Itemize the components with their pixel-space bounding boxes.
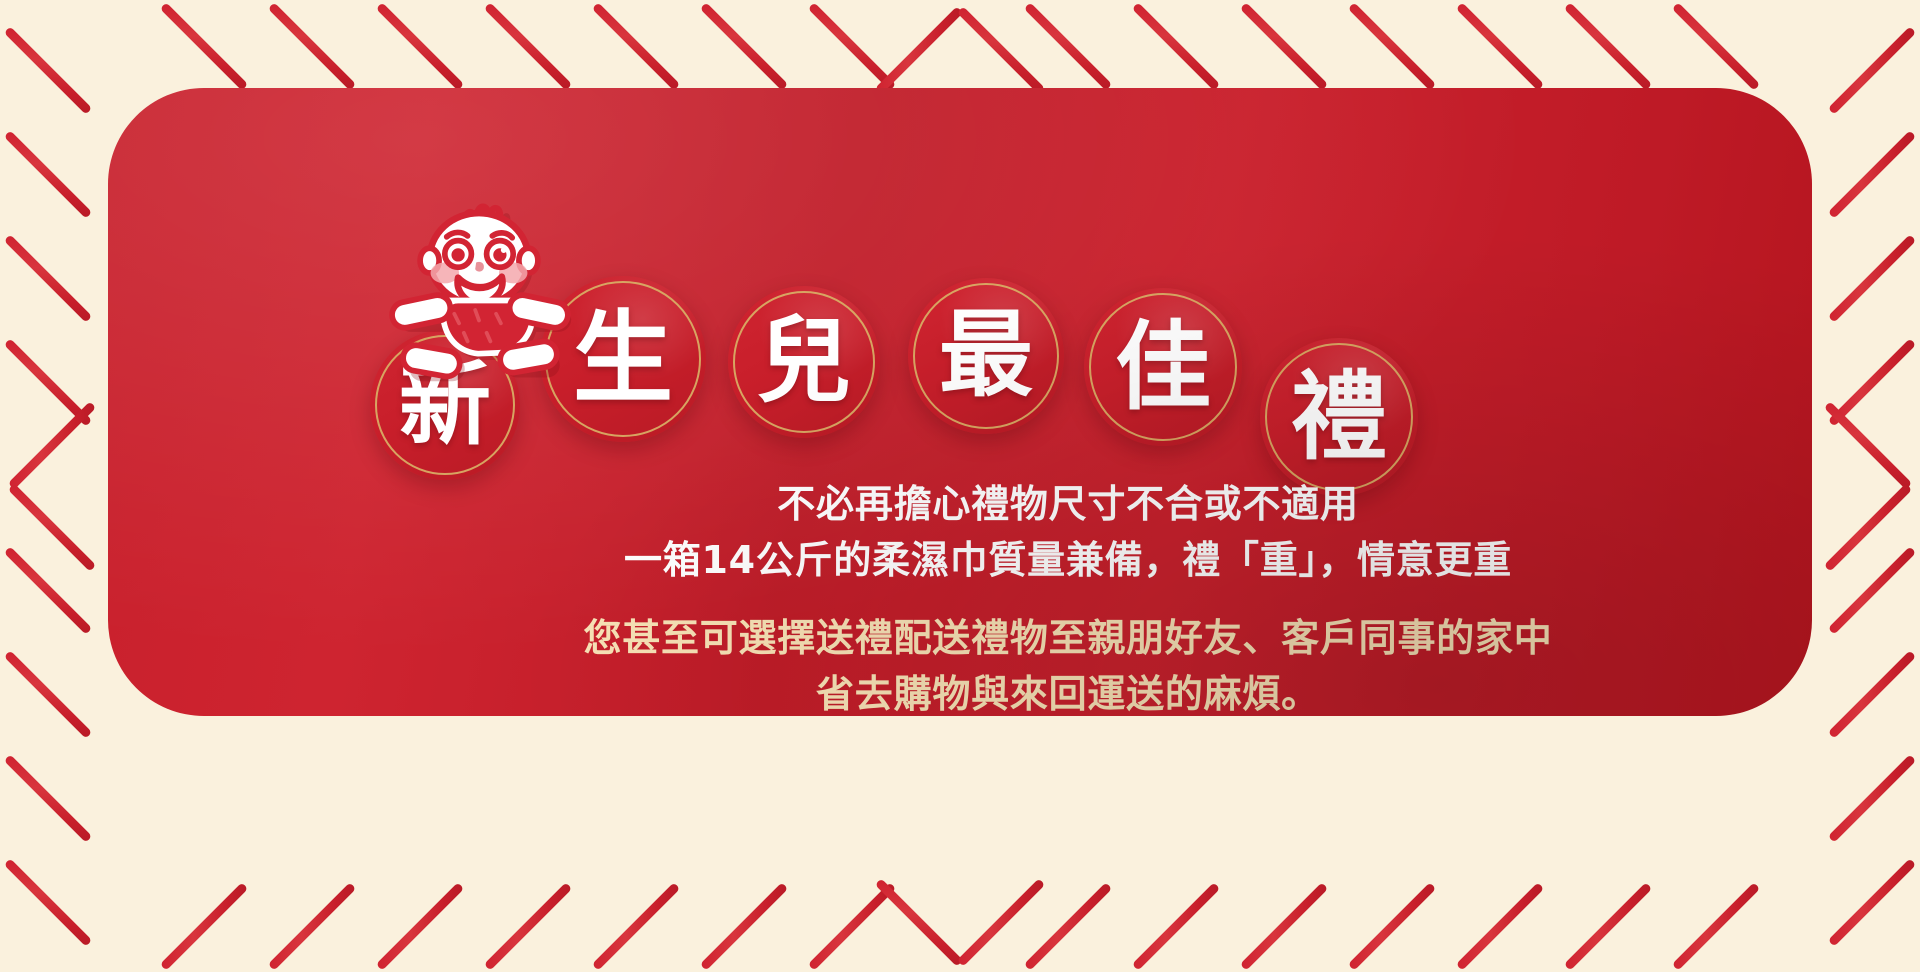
promo-copy: 不必再擔心禮物尺寸不合或不適用 一箱14公斤的柔濕巾質量兼備，禮「重」，情意更重… xyxy=(216,476,1812,716)
border-dash xyxy=(8,483,96,571)
border-dash xyxy=(268,882,356,970)
border-dash xyxy=(1564,882,1652,970)
headline-character: 禮 xyxy=(1291,369,1387,465)
border-dash xyxy=(700,2,788,90)
copy-line: 您甚至可選擇送禮配送禮物至親朋好友、客戶同事的家中 xyxy=(216,610,1812,666)
border-dash xyxy=(1348,2,1436,90)
baby-mascot-icon xyxy=(384,196,574,386)
border-dash xyxy=(4,234,92,322)
border-dash xyxy=(1828,546,1916,634)
border-dash xyxy=(1132,2,1220,90)
border-dash xyxy=(1828,234,1916,322)
border-dash xyxy=(1824,483,1912,571)
copy-paragraph-1: 不必再擔心禮物尺寸不合或不適用 一箱14公斤的柔濕巾質量兼備，禮「重」，情意更重 xyxy=(216,476,1812,588)
headline-character: 佳 xyxy=(1115,319,1211,415)
border-dash xyxy=(4,546,92,634)
border-dash xyxy=(4,130,92,218)
copy-line: 不必再擔心禮物尺寸不合或不適用 xyxy=(216,476,1812,532)
border-dash xyxy=(1240,882,1328,970)
border-dash xyxy=(4,858,92,946)
border-dash xyxy=(875,6,963,94)
promo-card: 新生兒最佳禮 xyxy=(108,88,1812,716)
border-dash xyxy=(1828,754,1916,842)
border-dash xyxy=(1024,2,1112,90)
border-dash xyxy=(1828,338,1916,426)
border-dash xyxy=(1672,882,1760,970)
border-dash xyxy=(957,6,1045,94)
border-dash xyxy=(1672,2,1760,90)
headline-circle-4: 最 xyxy=(908,278,1064,434)
headline-character: 生 xyxy=(573,309,673,409)
border-dash xyxy=(160,2,248,90)
border-dash xyxy=(484,882,572,970)
border-dash xyxy=(4,650,92,738)
border-dash xyxy=(592,2,680,90)
border-dash xyxy=(1828,650,1916,738)
headline-circle-6: 禮 xyxy=(1260,338,1418,496)
border-dash xyxy=(1132,882,1220,970)
border-dash xyxy=(160,882,248,970)
copy-line: 一箱14公斤的柔濕巾質量兼備，禮「重」，情意更重 xyxy=(216,532,1812,588)
promo-banner: 新生兒最佳禮 xyxy=(0,0,1920,972)
border-dash xyxy=(1828,858,1916,946)
border-dash xyxy=(4,338,92,426)
border-dash xyxy=(484,2,572,90)
headline-character: 兒 xyxy=(757,315,851,409)
border-dash xyxy=(8,401,96,489)
border-dash xyxy=(700,882,788,970)
border-dash xyxy=(1456,882,1544,970)
border-dash xyxy=(1564,2,1652,90)
headline-circle-3: 兒 xyxy=(728,286,880,438)
border-dash xyxy=(957,878,1045,966)
copy-paragraph-2: 您甚至可選擇送禮配送禮物至親朋好友、客戶同事的家中 省去購物與來回運送的麻煩。 xyxy=(216,610,1812,716)
border-dash xyxy=(376,2,464,90)
border-dash xyxy=(875,878,963,966)
border-dash xyxy=(1348,882,1436,970)
border-dash xyxy=(1828,26,1916,114)
border-dash xyxy=(1824,401,1912,489)
border-dash xyxy=(808,2,896,90)
border-dash xyxy=(268,2,356,90)
border-dash xyxy=(808,882,896,970)
border-dash xyxy=(1240,2,1328,90)
border-dash xyxy=(4,754,92,842)
copy-line: 省去購物與來回運送的麻煩。 xyxy=(216,666,1812,716)
border-dash xyxy=(376,882,464,970)
headline-character: 最 xyxy=(939,309,1033,403)
border-dash xyxy=(1024,882,1112,970)
border-dash xyxy=(1828,130,1916,218)
border-dash xyxy=(1456,2,1544,90)
headline-circle-5: 佳 xyxy=(1084,288,1242,446)
border-dash xyxy=(4,26,92,114)
border-dash xyxy=(592,882,680,970)
